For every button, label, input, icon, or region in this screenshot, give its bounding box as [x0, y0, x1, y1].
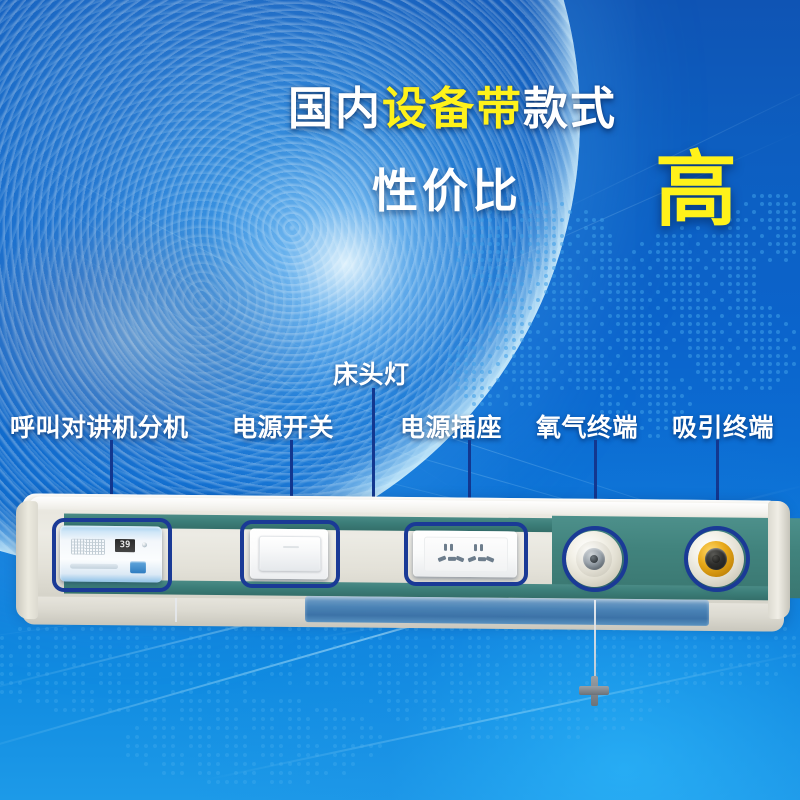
highlight-circle-suction	[684, 526, 750, 592]
highlight-circle-oxygen	[562, 526, 628, 592]
callout-label-3: 电源插座	[400, 415, 502, 440]
sub-headline: 性价比	[372, 168, 522, 214]
product-poster: 国内设备带款式 性价比 高 呼叫对讲机分机电源开关床头灯电源插座氧气终端吸引终端…	[0, 0, 800, 800]
callout-label-2: 床头灯	[333, 362, 410, 387]
callout-label-1: 电源开关	[232, 415, 334, 440]
left-cord	[175, 598, 177, 622]
bed-lamp-rail	[305, 596, 709, 626]
headline-part3: 款式	[523, 82, 617, 135]
headline-part1: 国内	[288, 82, 382, 135]
light-ray-0	[0, 120, 419, 365]
callout-label-0: 呼叫对讲机分机	[10, 415, 189, 440]
callout-label-5: 吸引终端	[672, 415, 774, 440]
highlight-box-intercom	[52, 518, 172, 592]
highlight-box-power-socket	[404, 522, 528, 586]
highlight-box-power-switch	[240, 520, 340, 588]
callout-label-4: 氧气终端	[536, 415, 638, 440]
headline-emphasis-char: 高	[655, 150, 737, 232]
headline-part2: 设备带	[382, 82, 523, 135]
panel-endcap-left	[16, 501, 38, 619]
pull-cord-handle[interactable]	[579, 676, 609, 706]
pull-cord[interactable]	[594, 600, 596, 680]
panel-endcap-right	[768, 501, 790, 619]
headline: 国内设备带款式	[288, 86, 758, 131]
